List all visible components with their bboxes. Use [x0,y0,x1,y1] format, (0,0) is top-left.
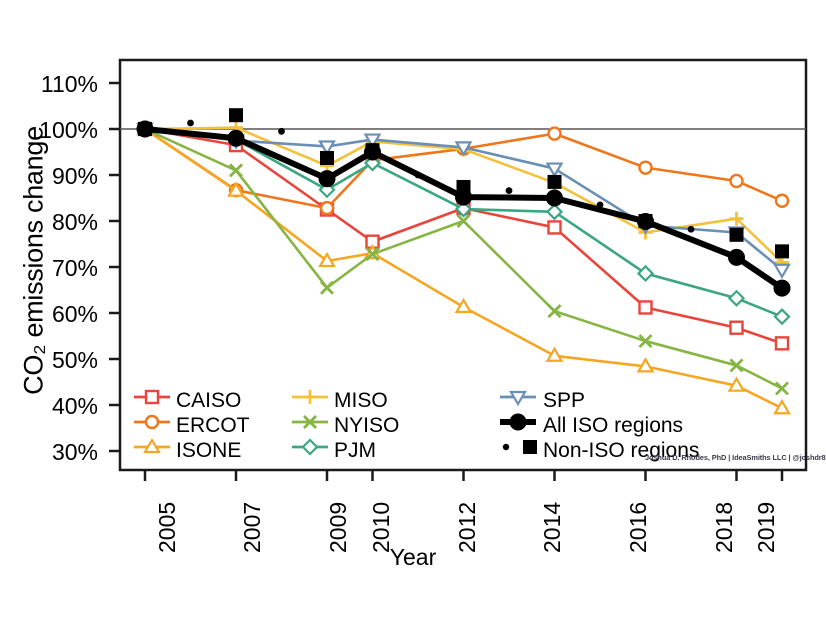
square-filled-marker [366,143,380,157]
square-filled-marker [523,440,537,454]
triangle-marker [457,300,471,312]
diamond-marker [548,205,562,219]
legend-key-ercot [134,416,170,428]
square-marker [549,221,561,233]
dot-marker [415,172,422,179]
circle-marker [146,416,158,428]
legend-key-spp [500,392,536,404]
square-marker [776,337,788,349]
square-marker [146,391,158,403]
legend-key-nyiso [292,416,328,428]
dot-marker [503,444,509,450]
square-filled-marker [639,214,653,228]
triangle-down-marker [775,265,789,277]
dot-marker [688,226,695,233]
legend-key-all-iso-regions [500,414,536,430]
series-line [145,129,782,408]
square-filled-marker [730,228,744,242]
circle-filled-marker [319,171,335,187]
square-filled-marker [457,180,471,194]
square-marker [731,322,743,334]
legend-key-caiso [134,391,170,403]
diamond-marker [730,291,744,305]
circle-marker [321,202,333,214]
circle-marker [776,195,788,207]
plot-canvas [0,0,826,620]
square-filled-marker [775,244,789,258]
circle-marker [640,162,652,174]
circle-filled-marker [228,130,244,146]
circle-filled-marker [774,280,790,296]
dot-marker [187,120,194,127]
series-line [145,129,782,388]
diamond-marker [303,440,317,454]
series-isone [138,122,789,413]
triangle-down-marker [548,164,562,176]
square-marker [640,301,652,313]
square-filled-marker [548,175,562,189]
legend-key-non-iso-regions [503,440,537,454]
legend-key-pjm [292,440,328,454]
legend-key-miso [292,390,328,404]
dot-marker [278,128,285,135]
diamond-marker [639,266,653,280]
circle-marker [731,175,743,187]
square-filled-marker [320,151,334,165]
circle-filled-marker [510,414,526,430]
circle-filled-marker [547,190,563,206]
square-filled-marker [138,122,152,136]
legend-key-isone [134,440,170,452]
dot-marker [597,202,604,209]
dot-marker [506,187,513,194]
plot-frame [120,60,806,470]
square-filled-marker [229,108,243,122]
co2-emissions-change-chart: CO₂ emissions change Year 110% 100% 90% … [0,0,826,620]
circle-filled-marker [729,249,745,265]
series-nyiso [139,123,788,394]
triangle-marker [548,349,562,361]
circle-marker [549,128,561,140]
diamond-marker [775,310,789,324]
